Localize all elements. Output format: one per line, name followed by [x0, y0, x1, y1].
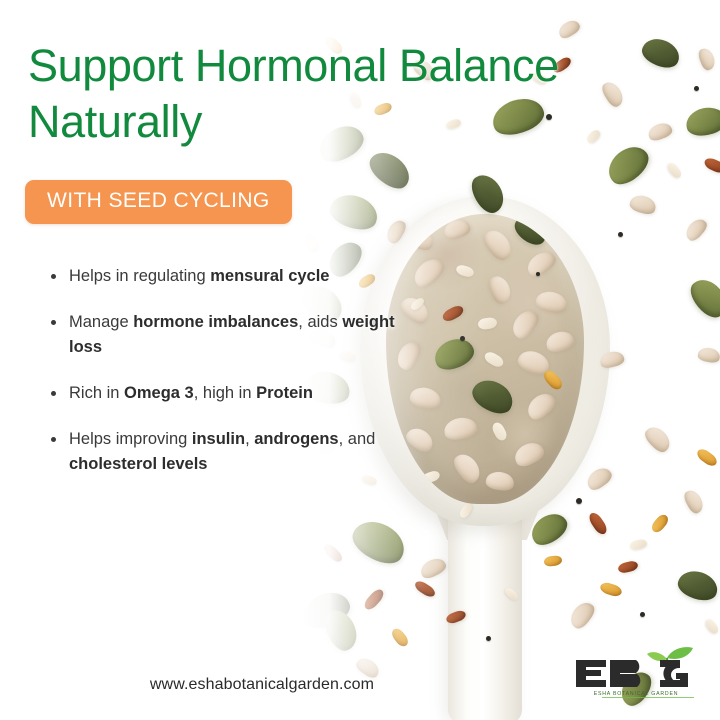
- list-item: Helps in regulating mensural cycle: [46, 264, 416, 289]
- bullet-strong-3a: insulin: [192, 430, 245, 448]
- bullet-strong-1a: hormone imbalances: [133, 313, 298, 331]
- bullet-text-0a: Helps in regulating: [69, 267, 210, 285]
- bullet-text-3c: , and: [339, 430, 376, 448]
- logo-letter-g: [660, 660, 688, 687]
- logo-letter-b: [610, 660, 640, 687]
- bullet-strong-2a: Omega 3: [124, 384, 194, 402]
- bullet-strong-2b: Protein: [256, 384, 313, 402]
- bullet-text-3a: Helps improving: [69, 430, 192, 448]
- bullet-text-1a: Manage: [69, 313, 133, 331]
- logo-tagline: ESHA BOTANICAL GARDEN: [594, 691, 679, 697]
- logo-letter-e: [576, 660, 606, 687]
- list-item: Manage hormone imbalances, aids weight l…: [46, 310, 416, 360]
- bullet-strong-3b: androgens: [254, 430, 338, 448]
- bullet-strong-0a: mensural cycle: [210, 267, 329, 285]
- benefits-list: Helps in regulating mensural cycle Manag…: [46, 264, 416, 498]
- list-item: Rich in Omega 3, high in Protein: [46, 381, 416, 406]
- page-title: Support Hormonal Balance Naturally: [28, 38, 598, 150]
- logo-svg: ESHA BOTANICAL GARDEN: [572, 642, 700, 698]
- bullet-text-2a: Rich in: [69, 384, 124, 402]
- bullet-text-2b: , high in: [194, 384, 256, 402]
- status-badge: WITH SEED CYCLING: [25, 180, 292, 224]
- ebg-logo[interactable]: ESHA BOTANICAL GARDEN: [572, 642, 700, 698]
- content-layer: Support Hormonal Balance Naturally WITH …: [0, 0, 720, 720]
- bullet-text-3b: ,: [245, 430, 254, 448]
- bullet-text-1b: , aids: [298, 313, 342, 331]
- promo-poster: Support Hormonal Balance Naturally WITH …: [0, 0, 720, 720]
- bullet-strong-3c: cholesterol levels: [69, 455, 208, 473]
- list-item: Helps improving insulin, androgens, and …: [46, 427, 416, 477]
